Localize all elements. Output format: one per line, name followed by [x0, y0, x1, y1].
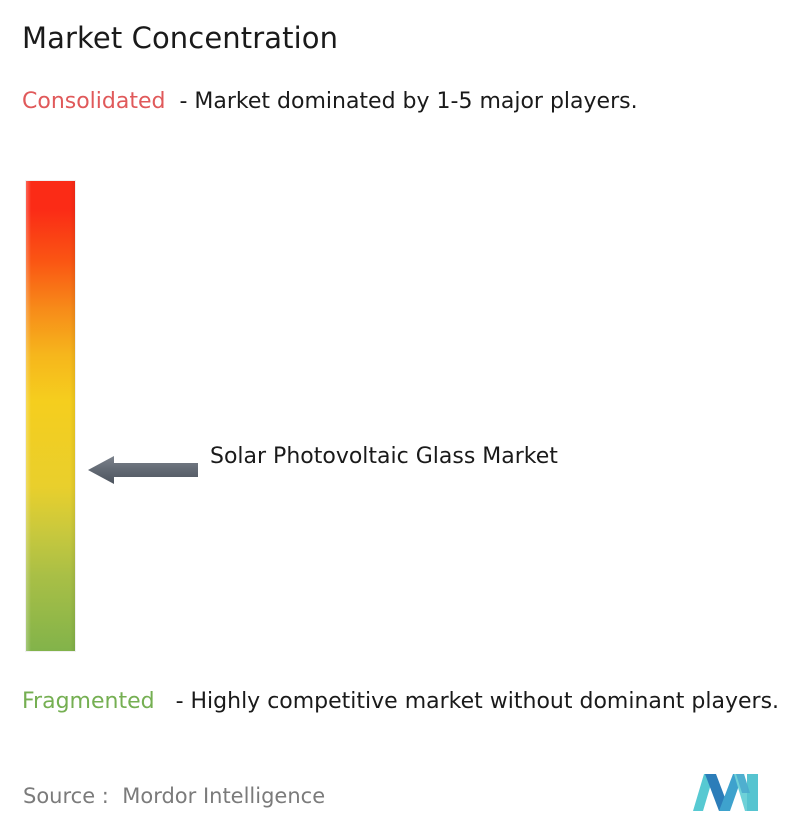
legend-consolidated-term: Consolidated	[22, 89, 165, 114]
legend-consolidated: Consolidated - Market dominated by 1-5 m…	[22, 86, 792, 117]
page-title: Market Concentration	[22, 20, 338, 56]
market-concentration-chart: Market Concentration Consolidated - Mark…	[0, 0, 796, 834]
source-attribution: Source : Mordor Intelligence	[23, 782, 325, 810]
legend-fragmented-term: Fragmented	[22, 689, 155, 714]
bar-highlight-left	[26, 181, 31, 651]
legend-fragmented-description: - Highly competitive market without domi…	[176, 689, 779, 714]
legend-fragmented: Fragmented - Highly competitive market w…	[22, 686, 792, 717]
footer-divider	[0, 762, 796, 763]
bar-shadow-right	[70, 181, 75, 651]
concentration-gradient-bar	[26, 181, 75, 651]
left-arrow-icon	[88, 454, 198, 486]
callout-label: Solar Photovoltaic Glass Market	[210, 440, 630, 474]
legend-fragmented-separator	[155, 689, 176, 714]
mordor-intelligence-logo-icon	[692, 770, 766, 814]
legend-consolidated-separator	[165, 89, 179, 114]
legend-consolidated-description: - Market dominated by 1-5 major players.	[179, 89, 637, 114]
